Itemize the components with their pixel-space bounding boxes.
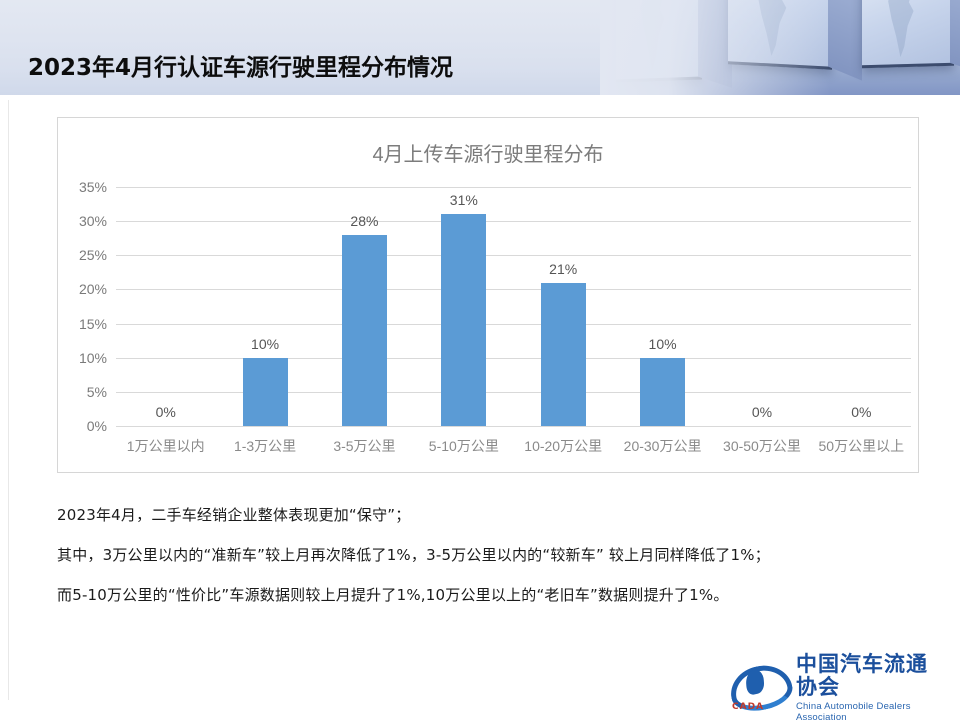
cube-side-face [828,0,862,81]
bar-value-label: 0% [116,404,215,420]
body-text-block: 2023年4月，二手车经销企业整体表现更加“保守”；其中，3万公里以内的“准新车… [57,495,923,615]
bar-slot[interactable]: 0% [812,187,911,426]
y-axis-tick-label: 5% [87,384,107,400]
organization-logo: CADA 中国汽车流通协会 China Automobile Dealers A… [728,662,946,714]
body-paragraph: 而5-10万公里的“性价比”车源数据则较上月提升了1%,10万公里以上的“老旧车… [57,575,923,615]
y-axis-tick-label: 25% [79,247,107,263]
bar-value-label: 0% [712,404,811,420]
chart-container: 4月上传车源行驶里程分布 35%30%25%20%15%10%5%0% 0%10… [57,117,919,473]
header-image-fade [600,0,830,97]
chart-bars: 0%10%28%31%21%10%0%0% [116,187,911,426]
y-axis-tick-label: 35% [79,179,107,195]
gridline: 0% [116,426,911,427]
bar-slot[interactable]: 0% [712,187,811,426]
logo-abbreviation: CADA [732,702,764,712]
x-axis-tick-label: 1-3万公里 [215,436,314,456]
bar[interactable] [243,358,288,426]
x-axis-tick-label: 5-10万公里 [414,436,513,456]
y-axis-tick-label: 0% [87,418,107,434]
bar-value-label: 10% [613,336,712,352]
chart-x-axis-labels: 1万公里以内1-3万公里3-5万公里5-10万公里10-20万公里20-30万公… [116,436,911,456]
x-axis-tick-label: 50万公里以上 [812,436,911,456]
body-paragraph: 2023年4月，二手车经销企业整体表现更加“保守”； [57,495,923,535]
x-axis-tick-label: 20-30万公里 [613,436,712,456]
page-title: 2023年4月行认证车源行驶里程分布情况 [28,48,453,82]
bar-value-label: 28% [315,213,414,229]
logo-wordmark: 中国汽车流通协会 China Automobile Dealers Associ… [796,653,946,723]
bar[interactable] [342,235,387,426]
decorative-cube-3 [862,0,954,68]
header-divider [0,95,960,97]
bar[interactable] [541,283,586,426]
bar-value-label: 31% [414,192,513,208]
bar-slot[interactable]: 31% [414,187,513,426]
bar-slot[interactable]: 21% [514,187,613,426]
x-axis-tick-label: 3-5万公里 [315,436,414,456]
chart-title: 4月上传车源行驶里程分布 [58,138,918,167]
slide-header: 2023年4月行认证车源行驶里程分布情况 [0,0,960,97]
bar[interactable] [441,214,486,426]
bar-slot[interactable]: 10% [215,187,314,426]
y-axis-tick-label: 20% [79,281,107,297]
x-axis-tick-label: 1万公里以内 [116,436,215,456]
bar-value-label: 10% [215,336,314,352]
bar-slot[interactable]: 0% [116,187,215,426]
y-axis-tick-label: 15% [79,316,107,332]
body-paragraph: 其中，3万公里以内的“准新车”较上月再次降低了1%，3-5万公里以内的“较新车”… [57,535,923,575]
left-margin-rule [8,100,9,700]
cada-emblem-icon: CADA [728,664,788,712]
bar-slot[interactable]: 10% [613,187,712,426]
bar-slot[interactable]: 28% [315,187,414,426]
chart-plot-area: 35%30%25%20%15%10%5%0% 0%10%28%31%21%10%… [116,187,911,426]
header-decorative-cubes-image [600,0,960,97]
world-map-motif [882,0,924,58]
y-axis-tick-label: 10% [79,350,107,366]
x-axis-tick-label: 10-20万公里 [514,436,613,456]
bar[interactable] [640,358,685,426]
cube-side-face [950,0,960,74]
y-axis-tick-label: 30% [79,213,107,229]
bar-value-label: 21% [514,261,613,277]
logo-chinese-name: 中国汽车流通协会 [796,653,946,699]
bar-value-label: 0% [812,404,911,420]
x-axis-tick-label: 30-50万公里 [712,436,811,456]
